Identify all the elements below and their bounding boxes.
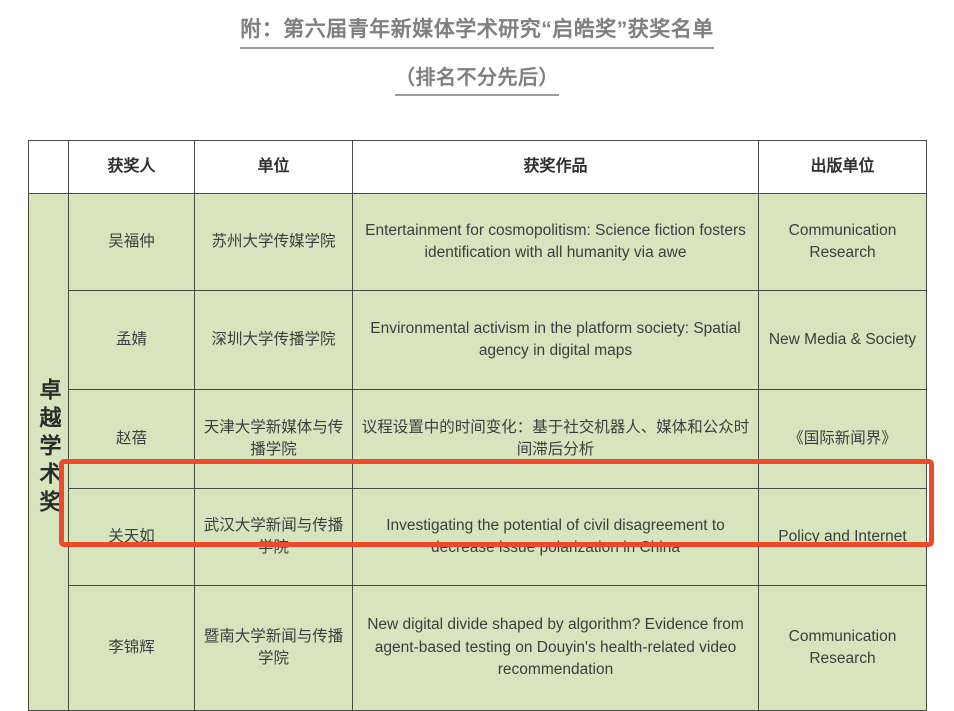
- award-group-cell: 卓越学术奖: [29, 194, 69, 711]
- table-row: 孟婧 深圳大学传播学院 Environmental activism in th…: [29, 291, 927, 390]
- award-table-container: 获奖人 单位 获奖作品 出版单位 卓越学术奖 吴福仲 苏州大学传媒学院 Ente…: [28, 140, 926, 711]
- cell-publisher: New Media & Society: [759, 291, 927, 390]
- cell-work: New digital divide shaped by algorithm? …: [353, 586, 759, 711]
- document-title-block: 附：第六届青年新媒体学术研究“启皓奖”获奖名单 （排名不分先后）: [0, 0, 954, 96]
- table-body: 卓越学术奖 吴福仲 苏州大学传媒学院 Entertainment for cos…: [29, 194, 927, 711]
- page-subtitle: （排名不分先后）: [395, 63, 559, 96]
- table-row: 李锦辉 暨南大学新闻与传播学院 New digital divide shape…: [29, 586, 927, 711]
- cell-work: Investigating the potential of civil dis…: [353, 489, 759, 586]
- cell-unit: 苏州大学传媒学院: [195, 194, 353, 291]
- cell-unit: 天津大学新媒体与传播学院: [195, 390, 353, 489]
- column-header-publisher: 出版单位: [759, 141, 927, 194]
- cell-publisher: Policy and Internet: [759, 489, 927, 586]
- cell-person: 赵蓓: [69, 390, 195, 489]
- award-group-label: 卓越学术奖: [38, 378, 60, 518]
- cell-person: 吴福仲: [69, 194, 195, 291]
- table-row: 赵蓓 天津大学新媒体与传播学院 议程设置中的时间变化：基于社交机器人、媒体和公众…: [29, 390, 927, 489]
- cell-work: 议程设置中的时间变化：基于社交机器人、媒体和公众时间滞后分析: [353, 390, 759, 489]
- table-header: 获奖人 单位 获奖作品 出版单位: [29, 141, 927, 194]
- cell-person: 关天如: [69, 489, 195, 586]
- column-header-unit: 单位: [195, 141, 353, 194]
- cell-work: Entertainment for cosmopolitism: Science…: [353, 194, 759, 291]
- cell-work: Environmental activism in the platform s…: [353, 291, 759, 390]
- table-row-highlighted: 关天如 武汉大学新闻与传播学院 Investigating the potent…: [29, 489, 927, 586]
- page-title: 附：第六届青年新媒体学术研究“启皓奖”获奖名单: [240, 14, 714, 49]
- cell-unit: 深圳大学传播学院: [195, 291, 353, 390]
- column-header-group: [29, 141, 69, 194]
- column-header-person: 获奖人: [69, 141, 195, 194]
- cell-publisher: 《国际新闻界》: [759, 390, 927, 489]
- cell-publisher: Communication Research: [759, 586, 927, 711]
- cell-person: 李锦辉: [69, 586, 195, 711]
- table-row: 卓越学术奖 吴福仲 苏州大学传媒学院 Entertainment for cos…: [29, 194, 927, 291]
- cell-publisher: Communication Research: [759, 194, 927, 291]
- award-table: 获奖人 单位 获奖作品 出版单位 卓越学术奖 吴福仲 苏州大学传媒学院 Ente…: [28, 140, 927, 711]
- cell-person: 孟婧: [69, 291, 195, 390]
- column-header-work: 获奖作品: [353, 141, 759, 194]
- cell-unit: 武汉大学新闻与传播学院: [195, 489, 353, 586]
- cell-unit: 暨南大学新闻与传播学院: [195, 586, 353, 711]
- table-header-row: 获奖人 单位 获奖作品 出版单位: [29, 141, 927, 194]
